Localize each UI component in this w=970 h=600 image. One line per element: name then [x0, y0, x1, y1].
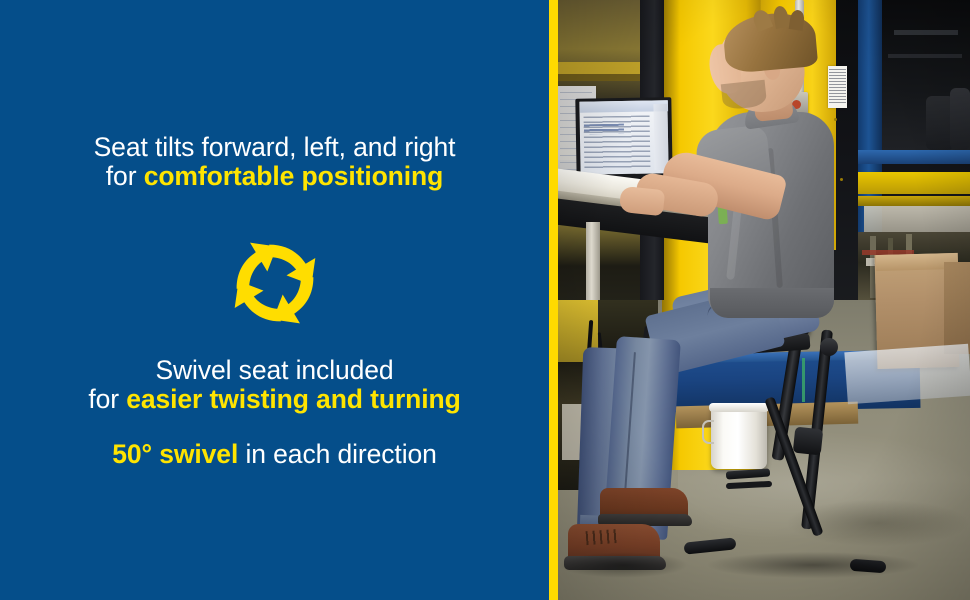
photo-white-bucket — [711, 405, 767, 469]
photo-background-shelf — [894, 30, 958, 35]
photo-stool-bracket — [793, 427, 824, 456]
product-photo — [558, 0, 970, 600]
circular-rotation-arrows-icon — [227, 235, 323, 331]
feature-banner: Seat tilts forward, left, and right for … — [0, 0, 970, 600]
photo-bucket-rim — [709, 403, 769, 412]
photo-monitor-sidepanel — [653, 104, 668, 170]
swivel-line-2-prefix: for — [88, 384, 126, 414]
headline-block: Seat tilts forward, left, and right for … — [0, 133, 549, 191]
photo-monitor-text-rows — [584, 124, 624, 135]
photo-shirt-hem — [710, 288, 834, 318]
photo-yellow-rack-beam — [858, 172, 970, 194]
left-copy-panel: Seat tilts forward, left, and right for … — [0, 0, 549, 600]
photo-rack-label-text — [829, 69, 846, 105]
headline-line-2-prefix: for — [106, 161, 144, 191]
degree-suffix: in each direction — [238, 439, 437, 469]
swivel-line-2: for easier twisting and turning — [0, 385, 549, 414]
swivel-line-2-highlight: easier twisting and turning — [126, 384, 460, 414]
photo-stored-goods — [950, 88, 970, 150]
photo-rack-bolt — [834, 118, 837, 121]
headline-line-2: for comfortable positioning — [0, 162, 549, 191]
degree-highlight: 50° swivel — [112, 439, 238, 469]
yellow-divider — [549, 0, 558, 600]
degree-line: 50° swivel in each direction — [0, 440, 549, 469]
photo-left-shelf-beam — [558, 74, 646, 81]
photo-blue-rack-beam — [858, 150, 970, 164]
degree-block: 50° swivel in each direction — [0, 440, 549, 469]
swivel-line-1: Swivel seat included — [0, 356, 549, 385]
photo-pallet-strap — [802, 358, 805, 402]
photo-stool-shadow — [708, 552, 918, 578]
photo-bucket-handle — [702, 420, 714, 444]
photo-person-hair-spike — [789, 9, 806, 31]
photo-boot-shadow — [558, 552, 688, 578]
photo-rack-bolt — [840, 178, 843, 181]
photo-boot-laces — [586, 529, 621, 545]
photo-person-hand — [619, 186, 665, 216]
photo-plastic-wrap — [844, 344, 970, 405]
photo-yellow-rack-beam — [858, 196, 970, 206]
headline-line-1: Seat tilts forward, left, and right — [0, 133, 549, 162]
photo-cardboard-box — [944, 262, 970, 354]
swivel-block: Swivel seat included for easier twisting… — [0, 356, 549, 414]
photo-background-shelf — [888, 54, 962, 58]
headline-line-2-highlight: comfortable positioning — [144, 161, 444, 191]
photo-stool-hinge — [820, 338, 838, 356]
